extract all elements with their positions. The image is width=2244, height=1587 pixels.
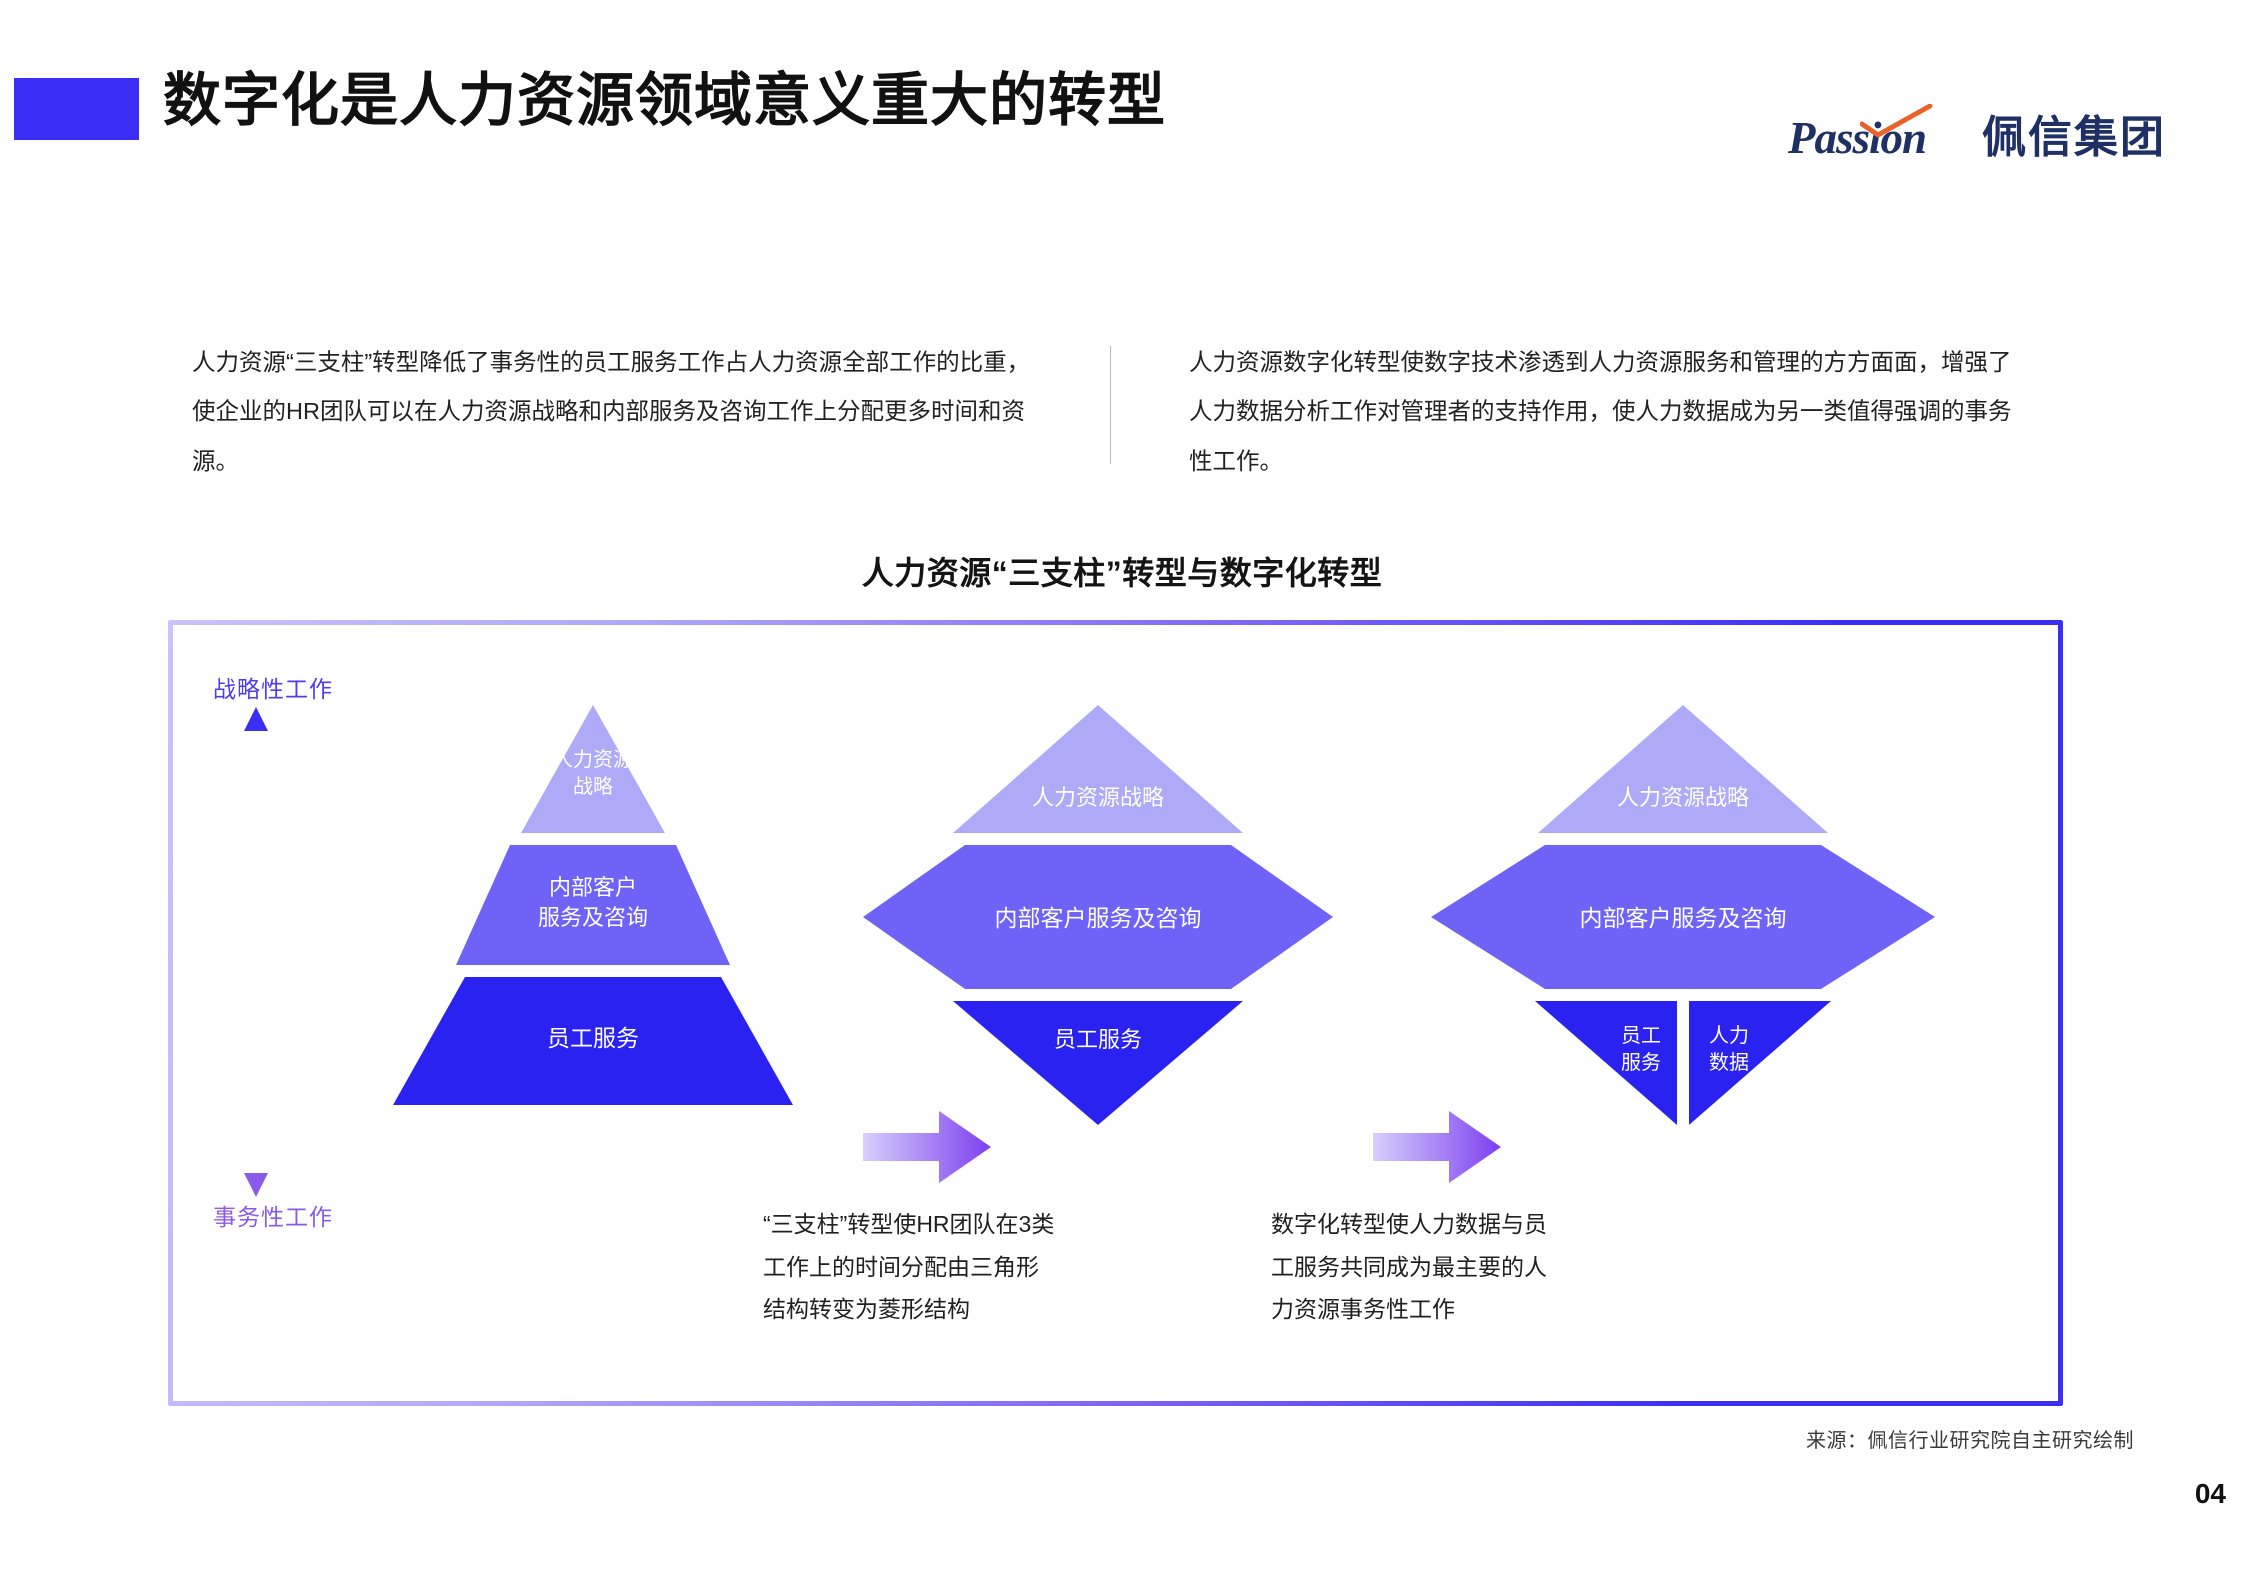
logo-wordmark-group: Passion: [1788, 110, 1970, 166]
intro-paragraphs: 人力资源“三支柱”转型降低了事务性的员工服务工作占人力资源全部工作的比重，使企业…: [192, 338, 2072, 486]
logo-chinese-name: 佩信集团: [1982, 110, 2166, 166]
slide-header: 数字化是人力资源领域意义重大的转型 Passion 佩信集团: [0, 0, 2244, 200]
logo-wordmark: Passion: [1788, 110, 1970, 166]
intro-paragraph-right: 人力资源数字化转型使数字技术渗透到人力资源服务和管理的方方面面，增强了人力数据分…: [1189, 338, 2029, 486]
header-accent-block: [14, 78, 139, 140]
chart-title: 人力资源“三支柱”转型与数字化转型: [0, 548, 2244, 594]
split-diamond-shape-icon: [1423, 705, 1943, 1125]
column-divider: [1110, 346, 1111, 464]
intro-paragraph-left: 人力资源“三支柱”转型降低了事务性的员工服务工作占人力资源全部工作的比重，使企业…: [192, 338, 1032, 486]
slide: 数字化是人力资源领域意义重大的转型 Passion 佩信集团 人力资源“三支柱”…: [0, 0, 2244, 1587]
diagram-canvas: 战略性工作 事务性工作: [173, 625, 2058, 1401]
stage-pyramid: 人力资源 战略 内部客户 服务及咨询 员工服务: [393, 705, 793, 1125]
axis-top-label: 战略性工作: [213, 670, 333, 704]
stage-diamond-split: 人力资源战略 内部客户服务及咨询 员工 服务 人力 数据: [1423, 705, 1943, 1125]
vertical-axis-arrow-icon: [237, 707, 275, 1197]
diamond-shape-icon: [853, 705, 1343, 1125]
axis-bottom-label: 事务性工作: [213, 1198, 333, 1232]
page-number: 04: [2195, 1478, 2226, 1510]
source-note: 来源：佩信行业研究院自主研究绘制: [1806, 1424, 2134, 1453]
pyramid-shape-icon: [393, 705, 793, 1125]
brand-logo: Passion 佩信集团: [1788, 110, 2166, 166]
transition-caption-1: “三支柱”转型使HR团队在3类 工作上的时间分配由三角形 结构转变为菱形结构: [763, 1203, 1183, 1331]
stage-diamond: 人力资源战略 内部客户服务及咨询 员工服务: [853, 705, 1343, 1125]
transition-caption-2: 数字化转型使人力数据与员 工服务共同成为最主要的人 力资源事务性工作: [1271, 1203, 1691, 1331]
page-title: 数字化是人力资源领域意义重大的转型: [163, 66, 1166, 136]
diagram-frame: 战略性工作 事务性工作: [168, 620, 2063, 1406]
